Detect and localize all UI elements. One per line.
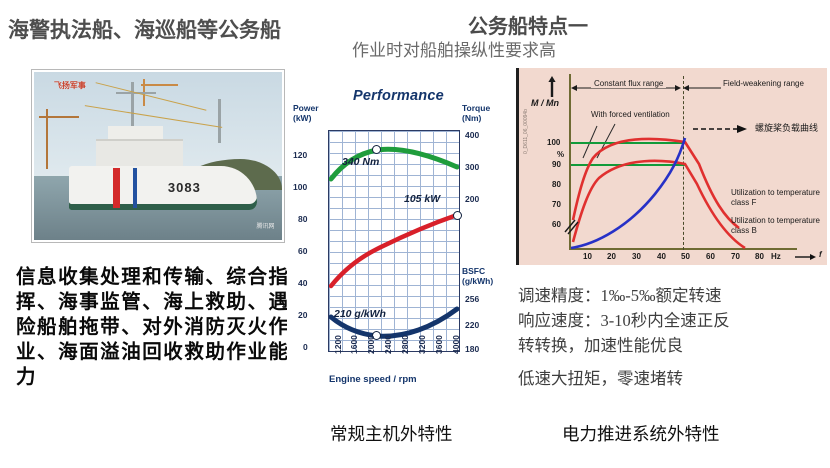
photo-crane-left-arm — [39, 116, 79, 118]
frequency-arrow-icon — [795, 252, 817, 262]
photo-crane-left — [46, 109, 48, 169]
photo-crane-right-arm — [141, 84, 178, 86]
y-axis-label-torque-line1: Torque — [462, 103, 490, 113]
motor-x-tick-30: 30 — [632, 252, 641, 261]
y-tick-power-20: 20 — [298, 310, 307, 320]
y-tick-torque-400: 400 — [465, 130, 479, 140]
x-tick-3600: 3600 — [434, 335, 444, 354]
x-tick-2000: 2000 — [366, 335, 376, 354]
power-curve — [331, 215, 457, 286]
photo-hull-number: 3083 — [168, 180, 201, 195]
annotation-bsfc: 210 g/kWh — [334, 308, 386, 320]
x-tick-2800: 2800 — [400, 335, 410, 354]
motor-x-tick-60: 60 — [706, 252, 715, 261]
x-tick-1600: 1600 — [349, 335, 359, 354]
annotation-utilization-class-F: Utilization to temperature class F — [731, 188, 823, 208]
annotation-utilization-class-B: Utilization to temperature class B — [731, 216, 823, 236]
y-tick-bsfc-180: 180 — [465, 344, 479, 354]
axis-break-icon — [563, 218, 579, 236]
motor-y-tick-60: 60 — [552, 220, 561, 229]
y-axis-label-bsfc: BSFC (g/kWh) — [462, 266, 493, 286]
body-right-line-4: 低速大扭矩，零速堵转 — [518, 366, 824, 391]
motor-x-axis-label: f — [819, 250, 822, 259]
x-tick-4000: 4000 — [451, 335, 461, 354]
motor-y-tick-70: 70 — [552, 200, 561, 209]
x-tick-3200: 3200 — [417, 335, 427, 354]
motor-y-tick-100: 100 — [547, 138, 560, 147]
y-tick-power-80: 80 — [298, 214, 307, 224]
motor-y-tick-80: 80 — [552, 180, 561, 189]
body-right-line-2: 响应速度：3-10秒内全速正反 — [518, 308, 824, 333]
x-tick-2400: 2400 — [383, 335, 393, 354]
y-tick-power-100: 100 — [293, 182, 307, 192]
marker-torque-point — [372, 145, 381, 154]
marker-power-point — [453, 211, 462, 220]
caption-left: 常规主机外特性 — [330, 421, 453, 446]
y-axis-label-power-line1: Power — [293, 103, 319, 113]
motor-y-tick-90: 90 — [552, 160, 561, 169]
body-text-right: 调速精度：1‰-5‰额定转速 响应速度：3-10秒内全速正反 转转换，加速性能优… — [518, 283, 824, 391]
y-axis-label-bsfc-line2: (g/kWh) — [462, 276, 493, 286]
photo-hull-blue-stripe — [133, 168, 137, 208]
photo-watermark-bottom: 腾讯网 — [257, 221, 275, 230]
y-axis-label-bsfc-line1: BSFC — [462, 266, 493, 276]
y-tick-bsfc-256: 256 — [465, 294, 479, 304]
motor-x-tick-10: 10 — [583, 252, 592, 261]
page-title-right: 公务船特点一 — [468, 10, 588, 39]
photo-hull-red-stripe — [113, 168, 120, 208]
y-tick-bsfc-220: 220 — [465, 320, 479, 330]
y-tick-power-40: 40 — [298, 278, 307, 288]
y-tick-power-60: 60 — [298, 246, 307, 256]
motor-x-unit-hz: Hz — [771, 252, 781, 261]
y-axis-label-torque-line2: (Nm) — [462, 113, 490, 123]
motor-y-unit-percent: % — [557, 150, 564, 159]
motor-x-tick-80: 80 — [755, 252, 764, 261]
y-tick-power-120: 120 — [293, 150, 307, 160]
photo-watermark-top: 飞扬军事 — [54, 80, 86, 91]
propeller-arrow-icon — [693, 124, 749, 134]
motor-x-tick-20: 20 — [607, 252, 616, 261]
caption-right: 电力推进系统外特性 — [562, 421, 720, 446]
body-right-line-3: 转转换，加速性能优良 — [518, 333, 824, 358]
motor-y-axis-label: M / Mn — [531, 98, 559, 108]
y-tick-power-0: 0 — [303, 342, 308, 352]
photo-fore-mast — [218, 99, 221, 143]
moment-ratio-arrow-icon — [545, 76, 559, 98]
motor-x-tick-40: 40 — [657, 252, 666, 261]
photo-hull — [69, 166, 257, 210]
x-tick-1200: 1200 — [333, 335, 343, 354]
motor-x-tick-70: 70 — [731, 252, 740, 261]
chart-title: Performance — [353, 88, 444, 104]
y-axis-label-torque: Torque (Nm) — [462, 103, 490, 123]
body-text-left: 信息收集处理和传输、综合指挥、海事监管、海上救助、遇险船舶拖带、对外消防灭火作业… — [16, 265, 288, 390]
motor-x-tick-50: 50 — [681, 252, 690, 261]
annotation-torque: 340 Nm — [342, 156, 379, 168]
y-axis-label-power: Power (kW) — [293, 103, 319, 123]
page-subtitle-right: 作业时对船舶操纵性要求高 — [352, 36, 556, 61]
annotation-power: 105 kW — [404, 193, 440, 205]
engine-performance-chart: Performance Power (kW) Torque (Nm) BSFC … — [287, 86, 509, 386]
body-right-line-1: 调速精度：1‰-5‰额定转速 — [518, 283, 824, 308]
motor-characteristic-chart: 0_D611_06_00094b M / Mn Constant flux ra… — [516, 68, 827, 265]
figure-id-text: 0_D611_06_00094b — [523, 109, 529, 154]
annotation-propeller-load-curve-cn: 螺旋桨负载曲线 — [755, 121, 818, 134]
x-axis-title: Engine speed / rpm — [329, 374, 417, 385]
y-tick-torque-200: 200 — [465, 194, 479, 204]
ship-photo: 3083 飞扬军事 腾讯网 — [32, 70, 284, 242]
y-axis-label-power-line2: (kW) — [293, 113, 319, 123]
y-tick-torque-300: 300 — [465, 162, 479, 172]
page-title-left: 海警执法船、海巡船等公务船 — [8, 14, 281, 44]
